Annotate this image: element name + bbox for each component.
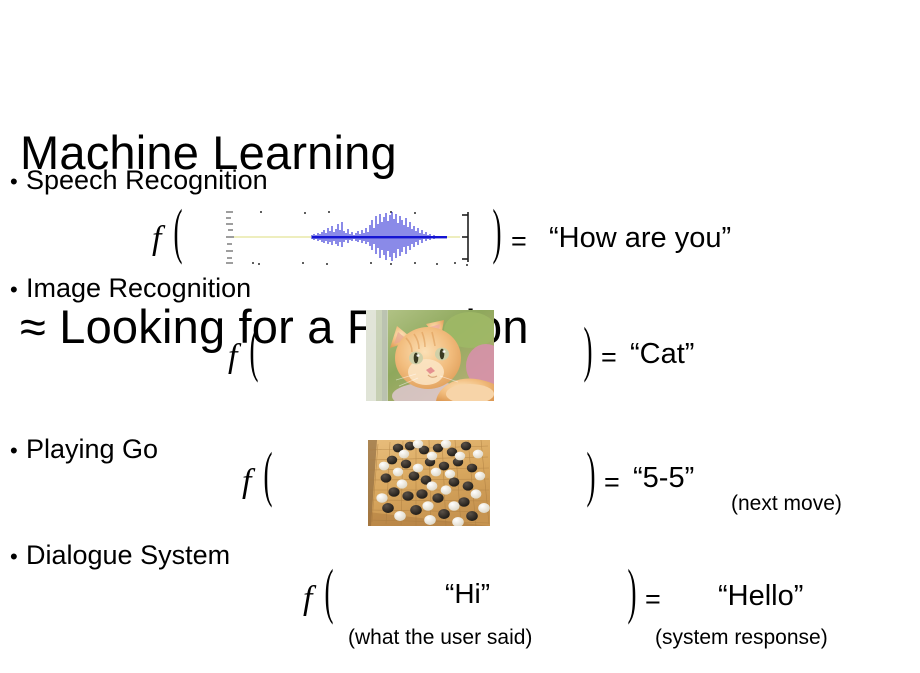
bullet-speech-recognition: •Speech Recognition	[10, 164, 268, 198]
bullet-label-dialogue: Dialogue System	[26, 540, 230, 570]
function-symbol-go: f	[242, 465, 251, 499]
close-paren-image: )	[584, 320, 593, 382]
function-symbol-speech: f	[152, 222, 161, 256]
input-text-dialogue: “Hi”	[445, 580, 490, 608]
close-paren-dialogue: )	[628, 562, 637, 624]
equals-image: =	[601, 344, 617, 371]
speech-waveform-plot	[222, 206, 474, 268]
close-paren-go: )	[587, 445, 596, 507]
function-symbol-dialogue: f	[303, 582, 312, 616]
note-next-move: (next move)	[731, 493, 842, 514]
waveform-svg	[222, 206, 474, 268]
equals-dialogue: =	[645, 586, 661, 613]
bullet-dialogue-system: •Dialogue System	[10, 539, 230, 573]
cat-photo-svg	[366, 310, 494, 401]
output-go: “5-5”	[633, 464, 694, 493]
open-paren-go: (	[264, 445, 273, 507]
note-system-response: (system response)	[655, 627, 828, 648]
output-image: “Cat”	[630, 340, 694, 369]
slide-canvas: Machine Learning ≈ Looking for a Functio…	[0, 0, 920, 673]
function-symbol-image: f	[228, 340, 237, 374]
bullet-dot-icon: •	[10, 541, 26, 573]
close-paren-speech: )	[493, 202, 502, 264]
equals-speech: =	[511, 228, 527, 255]
equals-go: =	[604, 469, 620, 496]
output-dialogue: “Hello”	[718, 582, 803, 611]
output-speech: “How are you”	[549, 224, 731, 253]
open-paren-image: (	[250, 320, 259, 382]
note-what-user-said: (what the user said)	[348, 627, 532, 648]
bullet-label-image: Image Recognition	[26, 273, 251, 303]
go-board-photo	[368, 440, 490, 526]
open-paren-dialogue: (	[325, 562, 334, 624]
open-paren-speech: (	[174, 202, 183, 264]
cat-photo	[366, 310, 494, 401]
bullet-label-speech: Speech Recognition	[26, 165, 268, 195]
bullet-dot-icon: •	[10, 435, 26, 467]
bullet-label-go: Playing Go	[26, 434, 158, 464]
go-board-svg	[368, 440, 490, 526]
bullet-dot-icon: •	[10, 274, 26, 306]
bullet-dot-icon: •	[10, 166, 26, 198]
bullet-playing-go: •Playing Go	[10, 433, 158, 467]
bullet-image-recognition: •Image Recognition	[10, 272, 251, 306]
